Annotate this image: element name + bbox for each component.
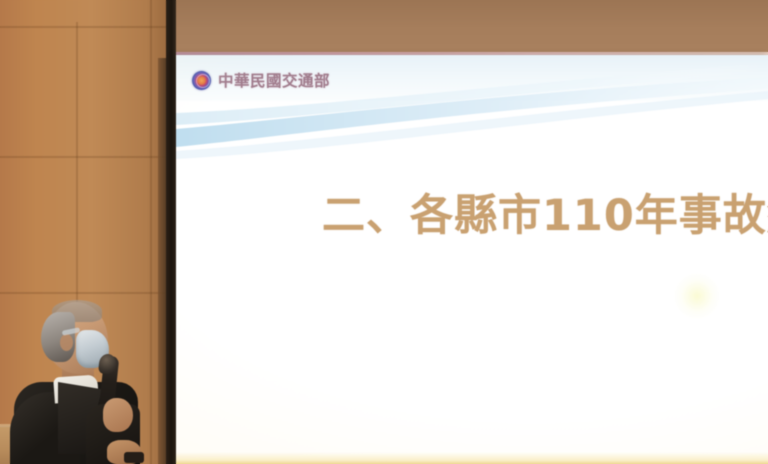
microphone-head-icon [98, 353, 117, 375]
slide-header: 中華民國交通部 [176, 55, 768, 165]
projection-screen: 中華民國交通部 二、各縣市110年事故統計 [176, 55, 768, 464]
slide-title: 二、各縣市110年事故統計 [322, 194, 768, 240]
slide-logo-text: 中華民國交通部 [218, 69, 330, 91]
screen-bottom-glow [176, 452, 768, 464]
presentation-scene: 中華民國交通部 二、各縣市110年事故統計 [0, 0, 768, 464]
presenter [0, 0, 176, 464]
presentation-clicker [124, 452, 144, 463]
slide-logo-lockup: 中華民國交通部 [192, 69, 330, 91]
motc-seal-icon [192, 71, 211, 90]
projector-hotspot-artifact [674, 273, 720, 319]
presenter-ear [60, 334, 73, 351]
presenter-hand-holding-mic [103, 398, 133, 432]
